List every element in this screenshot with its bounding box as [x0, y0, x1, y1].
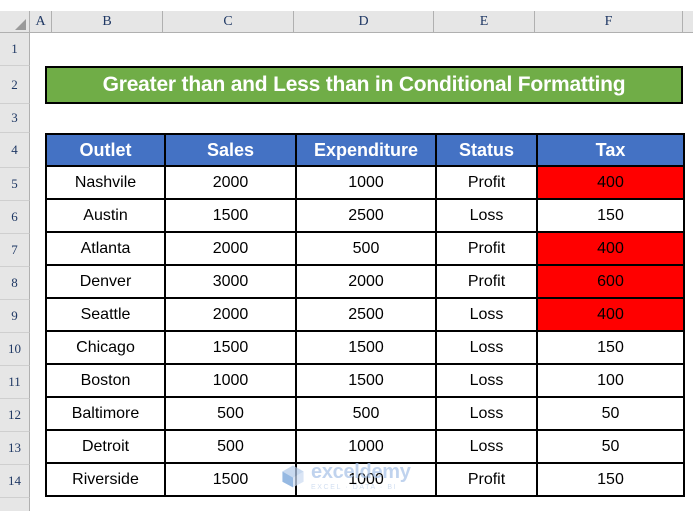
cell-sales[interactable]: 2000	[165, 232, 296, 265]
cell-status[interactable]: Profit	[436, 463, 537, 496]
column-header-c[interactable]: C	[163, 11, 294, 33]
cell-expenditure[interactable]: 1000	[296, 463, 436, 496]
column-header-b[interactable]: B	[52, 11, 163, 33]
cell-outlet[interactable]: Denver	[46, 265, 165, 298]
row-header-4[interactable]: 4	[0, 133, 30, 168]
row-header-5[interactable]: 5	[0, 168, 30, 201]
cell-sales[interactable]: 1000	[165, 364, 296, 397]
table-row[interactable]: Seattle 2000 2500 Loss 400	[46, 298, 684, 331]
cell-expenditure[interactable]: 1000	[296, 166, 436, 199]
cell-status[interactable]: Loss	[436, 298, 537, 331]
cell-outlet[interactable]: Boston	[46, 364, 165, 397]
column-header-status: Status	[436, 134, 537, 166]
cell-outlet[interactable]: Baltimore	[46, 397, 165, 430]
cell-status[interactable]: Loss	[436, 364, 537, 397]
cell-tax[interactable]: 50	[537, 430, 684, 463]
cell-sales[interactable]: 500	[165, 397, 296, 430]
table-row[interactable]: Austin 1500 2500 Loss 150	[46, 199, 684, 232]
row-header-14[interactable]: 14	[0, 465, 30, 498]
cell-outlet[interactable]: Riverside	[46, 463, 165, 496]
row-header-12[interactable]: 12	[0, 399, 30, 432]
table-row[interactable]: Riverside 1500 1000 Profit 150	[46, 463, 684, 496]
cell-expenditure[interactable]: 500	[296, 232, 436, 265]
cell-tax[interactable]: 400	[537, 166, 684, 199]
column-header-d[interactable]: D	[294, 11, 434, 33]
cell-sales[interactable]: 3000	[165, 265, 296, 298]
cell-tax[interactable]: 150	[537, 199, 684, 232]
cell-status[interactable]: Loss	[436, 199, 537, 232]
cell-tax[interactable]: 150	[537, 331, 684, 364]
column-header-outlet: Outlet	[46, 134, 165, 166]
row-header-13[interactable]: 13	[0, 432, 30, 465]
cell-sales[interactable]: 1500	[165, 199, 296, 232]
cell-expenditure[interactable]: 2500	[296, 199, 436, 232]
table-header-row: Outlet Sales Expenditure Status Tax	[46, 134, 684, 166]
cell-expenditure[interactable]: 1000	[296, 430, 436, 463]
cell-tax[interactable]: 400	[537, 298, 684, 331]
cell-expenditure[interactable]: 500	[296, 397, 436, 430]
row-header-8[interactable]: 8	[0, 267, 30, 300]
cell-expenditure[interactable]: 2500	[296, 298, 436, 331]
row-header-15[interactable]	[0, 498, 30, 511]
row-header-7[interactable]: 7	[0, 234, 30, 267]
cell-tax[interactable]: 50	[537, 397, 684, 430]
row-header-11[interactable]: 11	[0, 366, 30, 399]
select-all-button[interactable]	[0, 11, 30, 33]
cell-status[interactable]: Profit	[436, 232, 537, 265]
row-header-1[interactable]: 1	[0, 33, 30, 66]
cell-outlet[interactable]: Austin	[46, 199, 165, 232]
cell-status[interactable]: Profit	[436, 265, 537, 298]
cell-tax[interactable]: 100	[537, 364, 684, 397]
cell-sales[interactable]: 2000	[165, 298, 296, 331]
cell-sales[interactable]: 2000	[165, 166, 296, 199]
column-header-overflow	[683, 11, 693, 33]
page-title: Greater than and Less than in Conditiona…	[45, 66, 683, 104]
column-header-sales: Sales	[165, 134, 296, 166]
cell-status[interactable]: Loss	[436, 430, 537, 463]
row-header-10[interactable]: 10	[0, 333, 30, 366]
column-header-a[interactable]: A	[30, 11, 52, 33]
cell-expenditure[interactable]: 2000	[296, 265, 436, 298]
cell-tax[interactable]: 400	[537, 232, 684, 265]
column-header-f[interactable]: F	[535, 11, 683, 33]
row-header-9[interactable]: 9	[0, 300, 30, 333]
cell-outlet[interactable]: Seattle	[46, 298, 165, 331]
row-header-3[interactable]: 3	[0, 104, 30, 133]
cell-expenditure[interactable]: 1500	[296, 331, 436, 364]
cell-outlet[interactable]: Detroit	[46, 430, 165, 463]
cell-sales[interactable]: 1500	[165, 331, 296, 364]
table-row[interactable]: Denver 3000 2000 Profit 600	[46, 265, 684, 298]
cell-outlet[interactable]: Chicago	[46, 331, 165, 364]
cell-sales[interactable]: 1500	[165, 463, 296, 496]
row-header-2[interactable]: 2	[0, 66, 30, 104]
spreadsheet-canvas: A B C D E F 1 2 3 4 5 6 7 8 9 10 11 12 1…	[0, 0, 693, 511]
conditional-formatting-table: Outlet Sales Expenditure Status Tax Nash…	[45, 133, 685, 497]
table-row[interactable]: Atlanta 2000 500 Profit 400	[46, 232, 684, 265]
table-row[interactable]: Chicago 1500 1500 Loss 150	[46, 331, 684, 364]
cell-outlet[interactable]: Nashvile	[46, 166, 165, 199]
table-row[interactable]: Baltimore 500 500 Loss 50	[46, 397, 684, 430]
table-row[interactable]: Detroit 500 1000 Loss 50	[46, 430, 684, 463]
select-all-triangle-icon	[15, 19, 26, 30]
table-row[interactable]: Nashvile 2000 1000 Profit 400	[46, 166, 684, 199]
cell-expenditure[interactable]: 1500	[296, 364, 436, 397]
column-header-e[interactable]: E	[434, 11, 535, 33]
column-header-tax: Tax	[537, 134, 684, 166]
cell-status[interactable]: Loss	[436, 331, 537, 364]
cell-tax[interactable]: 150	[537, 463, 684, 496]
cell-outlet[interactable]: Atlanta	[46, 232, 165, 265]
column-header-expenditure: Expenditure	[296, 134, 436, 166]
cell-status[interactable]: Loss	[436, 397, 537, 430]
row-header-6[interactable]: 6	[0, 201, 30, 234]
cell-sales[interactable]: 500	[165, 430, 296, 463]
cell-tax[interactable]: 600	[537, 265, 684, 298]
cell-status[interactable]: Profit	[436, 166, 537, 199]
table-row[interactable]: Boston 1000 1500 Loss 100	[46, 364, 684, 397]
